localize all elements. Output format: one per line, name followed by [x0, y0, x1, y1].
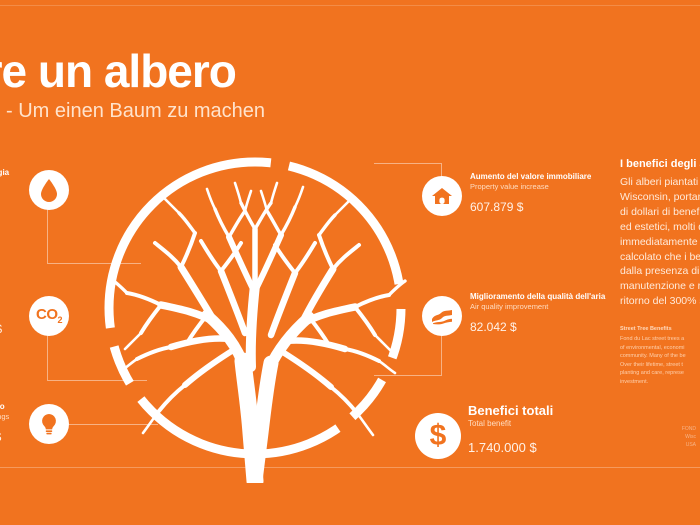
stat-co2-value: 658 $ [0, 322, 2, 336]
sidebar-heading: I benefici degli a [620, 158, 700, 170]
stat-property-label-it: Aumento del valore immobiliare [470, 172, 591, 182]
sidebar-en-line: planting and care, represe [620, 369, 700, 378]
sidebar-it-line: calcolato che i ben [620, 250, 700, 265]
house-badge [422, 176, 462, 216]
stat-stormwater-label-it: a pioggia [0, 168, 9, 178]
stat-stormwater: a pioggia duction 40 $ [0, 168, 9, 210]
stat-co2: bonica duction 658 $ [0, 294, 2, 336]
sidebar-article: I benefici degli a Gli alberi piantati a… [620, 158, 700, 386]
sidebar-it-line: Gli alberi piantati a [620, 175, 700, 190]
credit-line: Wisc [620, 433, 696, 441]
stat-property-label-en: Property value increase [470, 182, 591, 191]
water-drop-icon [39, 178, 59, 202]
sidebar-it-line: immediatamente [620, 235, 700, 250]
sidebar-en-line: investment. [620, 378, 700, 387]
dollar-coin-icon: $ [430, 421, 447, 451]
sidebar-en-line: community. Many of the be [620, 352, 700, 361]
credit-block: FOND Wisc USA [620, 425, 696, 449]
connector-energy [68, 424, 158, 425]
air-quality-badge [422, 296, 462, 336]
dollar-coin-badge: $ [415, 413, 461, 459]
stat-co2-label-it: bonica [0, 294, 2, 304]
stat-energy-label-it: rgetico [0, 402, 9, 412]
water-drop-badge [29, 170, 69, 210]
stat-total-benefit: Benefici totali Total benefit 1.740.000 … [468, 403, 553, 455]
sidebar-en-title: Street Tree Benefits [620, 326, 700, 332]
stat-air-label-en: Air quality improvement [470, 302, 605, 311]
stat-total-label-en: Total benefit [468, 419, 553, 429]
connector-water [47, 198, 141, 264]
stat-energy-label-en: y savings [0, 412, 9, 421]
sidebar-en-line: of environmental, economi [620, 344, 700, 353]
sidebar-it-line: di dollari di benefic [620, 205, 700, 220]
sidebar-paragraph-en: Fond du Lac street trees a of environmen… [620, 335, 700, 386]
sidebar-it-line: Wisconsin, portano [620, 190, 700, 205]
stat-property-value-amount: 607.879 $ [470, 200, 591, 214]
stat-energy-value: 44 $ [0, 430, 9, 444]
stat-stormwater-value: 40 $ [0, 196, 9, 210]
stat-air-label-it: Miglioramento della qualità dell'aria [470, 292, 605, 302]
stat-stormwater-label-en: duction [0, 178, 9, 187]
stat-air-value: 82.042 $ [470, 320, 605, 334]
lightbulb-badge [29, 404, 69, 444]
co2-icon: CO2 [36, 307, 62, 325]
stat-co2-label-en: duction [0, 304, 2, 313]
stat-air-quality: Miglioramento della qualità dell'aria Ai… [470, 292, 605, 334]
page-title: are un albero [0, 48, 236, 94]
air-quality-icon [430, 307, 454, 325]
sidebar-it-line: ed estetici, molti d [620, 220, 700, 235]
sidebar-it-line: dalla presenza di [620, 264, 700, 279]
stat-total-label-it: Benefici totali [468, 403, 553, 419]
lightbulb-icon [39, 412, 59, 436]
sidebar-en-line: Over their lifetime, street t [620, 361, 700, 370]
house-icon [431, 186, 453, 206]
credit-line: USA [620, 441, 696, 449]
sidebar-it-line: ritorno del 300% s [620, 294, 700, 309]
page-subtitle: tree - Um einen Baum zu machen [0, 100, 265, 122]
sidebar-en-line: Fond du Lac street trees a [620, 335, 700, 344]
connector-co2 [47, 325, 147, 381]
stat-total-value: 1.740.000 $ [468, 440, 553, 455]
top-divider [0, 5, 700, 6]
sidebar-paragraph-it: Gli alberi piantati a Wisconsin, portano… [620, 175, 700, 309]
credit-line: FOND [620, 425, 696, 433]
stat-energy: rgetico y savings 44 $ [0, 402, 9, 444]
co2-badge: CO2 [29, 296, 69, 336]
sidebar-it-line: manutenzione e ra [620, 279, 700, 294]
stat-property-value: Aumento del valore immobiliare Property … [470, 172, 591, 214]
tree-artwork [95, 133, 415, 483]
